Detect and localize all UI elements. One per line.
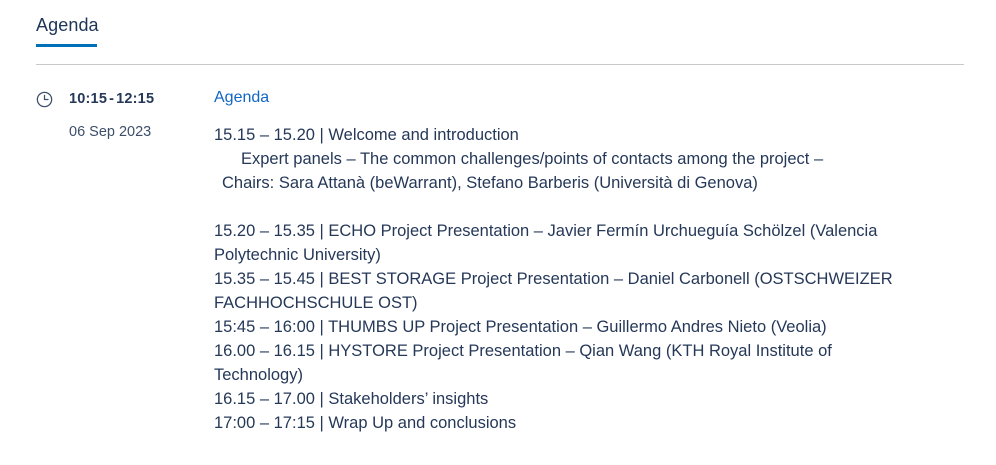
agenda-line-best-storage: 15.35 – 15.45 | BEST STORAGE Project Pre… [214, 267, 906, 315]
event-time-range: 10:15-12:15 [69, 91, 154, 107]
event-time-dash: - [107, 91, 116, 107]
agenda-line-thumbs-up: 15:45 – 16:00 | THUMBS UP Project Presen… [214, 315, 906, 339]
agenda-line-expert-panels: Expert panels – The common challenges/po… [214, 147, 933, 171]
tab-active-indicator [36, 44, 97, 47]
event-time-end: 12:15 [116, 91, 154, 107]
agenda-line-chairs: Chairs: Sara Attanà (beWarrant), Stefano… [214, 171, 914, 195]
agenda-line-hystore: 16.00 – 16.15 | HYSTORE Project Presenta… [214, 339, 906, 387]
agenda-line-wrap-up: 17:00 – 17:15 | Wrap Up and conclusions [214, 411, 906, 435]
tab-agenda-label: Agenda [36, 15, 99, 35]
agenda-line-welcome: 15.15 – 15.20 | Welcome and introduction [214, 123, 906, 147]
agenda-event: 10:15-12:15 06 Sep 2023 Agenda 15.15 – 1… [0, 88, 996, 435]
agenda-line-stakeholders: 16.15 – 17.00 | Stakeholders’ insights [214, 387, 906, 411]
agenda-line-echo: 15.20 – 15.35 | ECHO Project Presentatio… [214, 219, 906, 267]
event-content: Agenda 15.15 – 15.20 | Welcome and intro… [210, 88, 996, 435]
event-meta: 10:15-12:15 06 Sep 2023 [0, 88, 210, 140]
header-divider [36, 64, 964, 65]
event-time-row: 10:15-12:15 [36, 88, 210, 110]
agenda-link[interactable]: Agenda [214, 88, 269, 108]
clock-icon [36, 91, 53, 108]
tab-agenda[interactable]: Agenda [36, 14, 99, 46]
event-time-start: 10:15 [69, 91, 107, 107]
event-date: 06 Sep 2023 [69, 124, 210, 140]
